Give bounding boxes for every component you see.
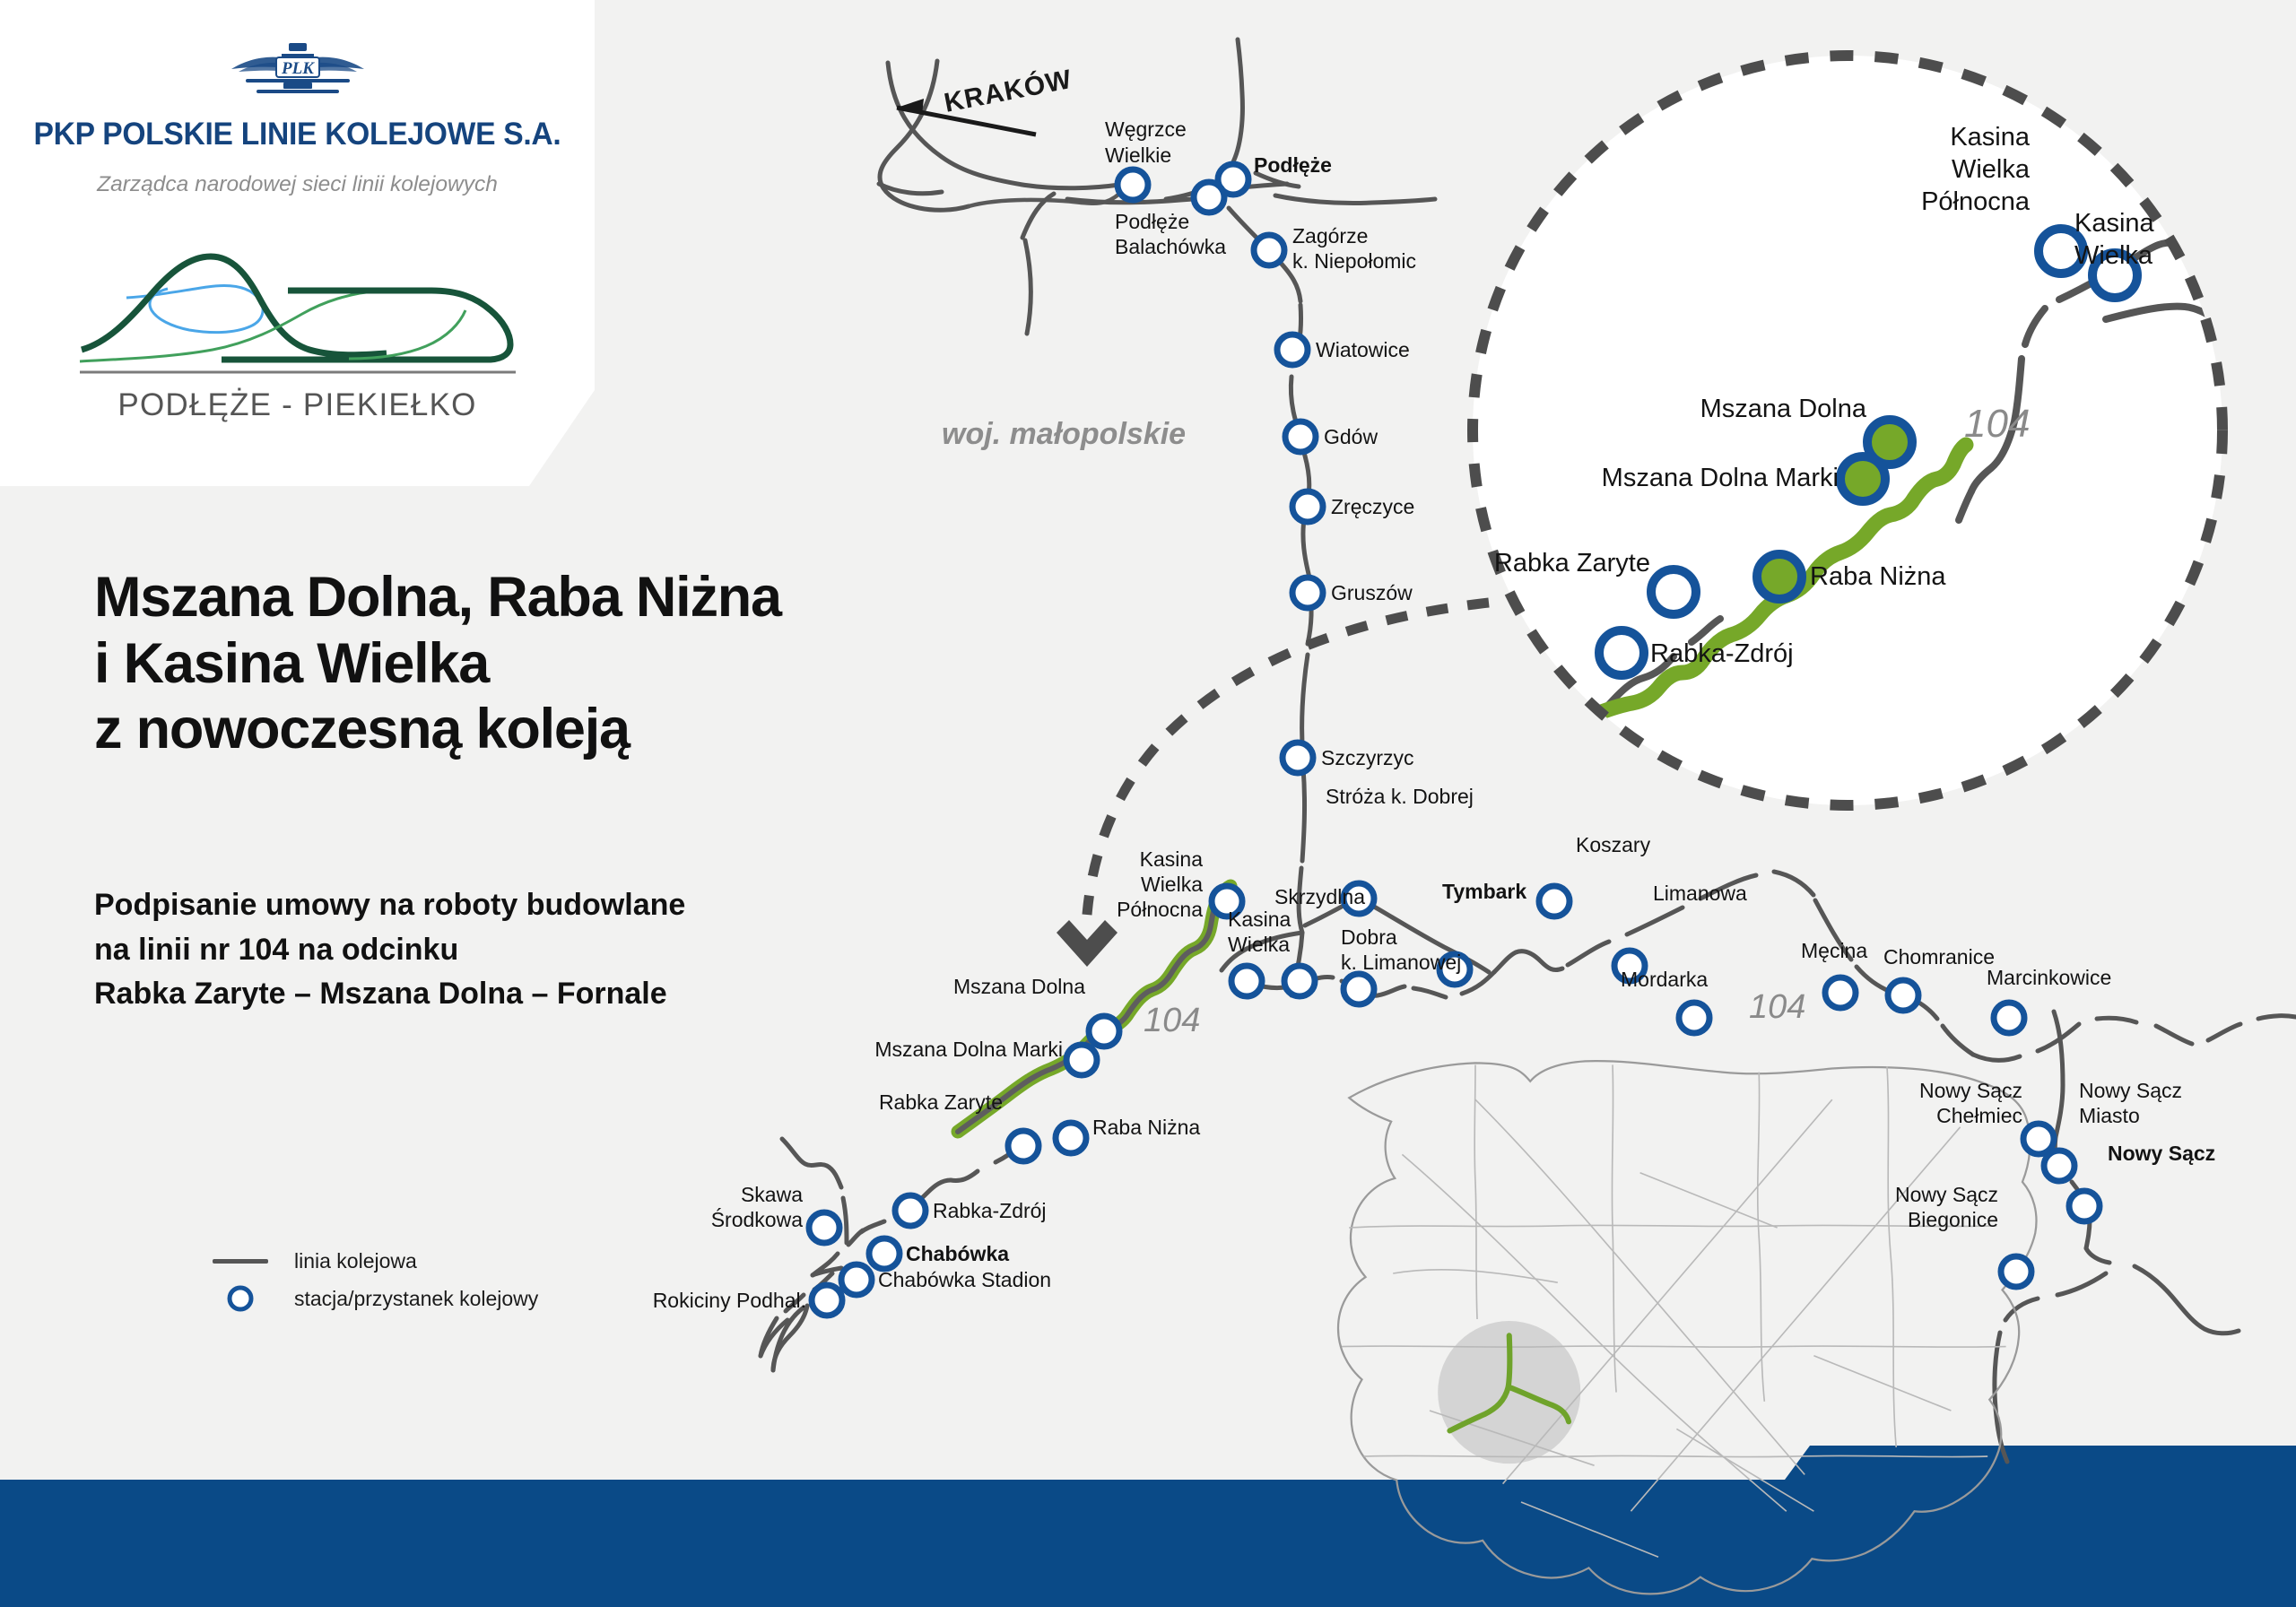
- label-gdow: Gdów: [1324, 425, 1378, 448]
- region-label: woj. małopolskie: [942, 417, 1186, 451]
- label-podleze-balachowka-1: Podłęże: [1115, 210, 1189, 233]
- label-kwp-3: Północna: [1117, 898, 1203, 921]
- station-node-chomranice[interactable]: [1888, 980, 1918, 1011]
- label-kw-2: Wielka: [1228, 933, 1290, 956]
- station-node-szczyrzyc[interactable]: [1283, 743, 1313, 773]
- legend-label-station: stacja/przystanek kolejowy: [294, 1287, 538, 1311]
- company-name: PKP POLSKIE LINIE KOLEJOWE S.A.: [12, 117, 582, 152]
- inset-label-kwp-3: Północna: [1921, 187, 2031, 216]
- inset-label-kw-1: Kasina: [2074, 209, 2155, 238]
- station-node-nowy-sacz[interactable]: [2069, 1191, 2100, 1221]
- inset-node-mszana-dolna-marki[interactable]: [1840, 456, 1885, 501]
- label-chabowka: Chabówka: [906, 1242, 1009, 1265]
- label-podleze-balachowka-2: Balachówka: [1115, 235, 1226, 258]
- station-node-skrzydlna[interactable]: [1284, 966, 1315, 996]
- inset-label-mszana-dolna: Mszana Dolna: [1700, 395, 1867, 423]
- label-podleze: Podłęże: [1254, 153, 1332, 177]
- label-marcinkowice: Marcinkowice: [1987, 966, 2111, 989]
- poland-locator-map: [1338, 1061, 2036, 1594]
- station-node-dobra[interactable]: [1344, 974, 1374, 1004]
- label-dobra-2: k. Limanowej: [1341, 951, 1461, 974]
- project-mark-icon: [74, 244, 521, 378]
- svg-text:PLK: PLK: [281, 59, 315, 78]
- label-mecina: Męcina: [1801, 939, 1867, 962]
- label-dobra-1: Dobra: [1341, 925, 1397, 949]
- label-koszary: Koszary: [1576, 833, 1651, 856]
- label-wegrzce-wielkie-2: Wielkie: [1105, 143, 1171, 167]
- station-node-wegrzce-wielkie[interactable]: [1118, 169, 1148, 200]
- station-node-nowy-sacz-miasto[interactable]: [2044, 1151, 2074, 1181]
- label-skrzydlna: Skrzydlna: [1274, 885, 1365, 908]
- inset-label-kwp-2: Wielka: [1952, 155, 2031, 184]
- label-raba-nizna: Raba Niżna: [1092, 1116, 1200, 1139]
- label-rabka-zaryte: Rabka Zaryte: [879, 1090, 1003, 1114]
- legend-item-station: stacja/przystanek kolejowy: [208, 1280, 538, 1317]
- label-wegrzce-wielkie-1: Węgrzce: [1105, 117, 1187, 141]
- station-node-podleze-balachowka[interactable]: [1194, 182, 1224, 213]
- inset-label-kw-2: Wielka: [2074, 241, 2153, 270]
- title-line-1: Mszana Dolna, Raba Niżna: [94, 565, 1170, 631]
- station-node-gruszow[interactable]: [1292, 578, 1323, 608]
- station-node-koszary[interactable]: [1539, 886, 1570, 916]
- inset-node-rabka-zaryte[interactable]: [1651, 569, 1696, 614]
- label-nsm-2: Miasto: [2079, 1104, 2140, 1127]
- inset-node-rabka-zdroj[interactable]: [1599, 630, 1644, 675]
- station-node-kasina-wielka[interactable]: [1231, 966, 1262, 996]
- brand-card: PLK PKP POLSKIE LINIE KOLEJOWE S.A. Zarz…: [0, 0, 595, 486]
- label-tymbark: Tymbark: [1442, 880, 1526, 903]
- label-zagorze-1: Zagórze: [1292, 224, 1368, 248]
- label-skawa-1: Skawa: [741, 1183, 803, 1206]
- label-nsb-1: Nowy Sącz: [1895, 1183, 1998, 1206]
- station-node-chabowka[interactable]: [869, 1238, 900, 1269]
- infographic-canvas: Węgrzce Wielkie Podłęże Podłęże Balachów…: [0, 0, 2296, 1607]
- inset-label-raba-nizna: Raba Niżna: [1810, 562, 1946, 591]
- line-number-main: 104: [1144, 1002, 1200, 1039]
- legend-item-rail-line: linia kolejowa: [208, 1242, 538, 1280]
- station-node-mecina[interactable]: [1825, 977, 1856, 1008]
- inset-node-raba-nizna[interactable]: [1757, 554, 1802, 599]
- label-szczyrzyc: Szczyrzyc: [1321, 746, 1414, 769]
- station-node-mszana-dolna[interactable]: [1089, 1016, 1119, 1047]
- label-limanowa: Limanowa: [1653, 882, 1747, 905]
- station-node-zreczyce[interactable]: [1292, 491, 1323, 522]
- label-nsm-1: Nowy Sącz: [2079, 1079, 2182, 1102]
- station-node-mordarka[interactable]: [1679, 1003, 1709, 1033]
- station-node-skawa-srodkowa[interactable]: [809, 1212, 839, 1243]
- inset-line-number: 104: [1964, 402, 2030, 446]
- station-node-wiatowice[interactable]: [1277, 334, 1308, 365]
- label-nsch-2: Chełmiec: [1936, 1104, 2022, 1127]
- inset-label-mszana-dolna-marki: Mszana Dolna Marki: [1602, 464, 1839, 492]
- line-number-east: 104: [1749, 988, 1805, 1026]
- label-kw-1: Kasina: [1228, 908, 1291, 931]
- label-wiatowice: Wiatowice: [1316, 338, 1410, 361]
- subtitle-line-2: na linii nr 104 na odcinku: [94, 928, 1081, 973]
- label-zagorze-2: k. Niepołomic: [1292, 249, 1416, 273]
- label-rokiciny: Rokiciny Podhal.: [653, 1289, 806, 1312]
- station-node-nowy-sacz-chelmiec[interactable]: [2023, 1124, 2054, 1154]
- rail-line-swatch-icon: [208, 1259, 273, 1264]
- inset-label-rabka-zaryte: Rabka Zaryte: [1494, 549, 1650, 578]
- label-skawa-2: Środkowa: [711, 1207, 803, 1231]
- label-stroza: Stróża k. Dobrej: [1326, 785, 1474, 808]
- station-node-marcinkowice[interactable]: [1994, 1003, 2024, 1033]
- subtitle-line-1: Podpisanie umowy na roboty budowlane: [94, 883, 1081, 928]
- station-node-chabowka-stadion[interactable]: [841, 1264, 872, 1295]
- station-node-nowy-sacz-biegonice[interactable]: [2001, 1256, 2031, 1287]
- station-node-zagorze[interactable]: [1254, 235, 1284, 265]
- legend-label-rail-line: linia kolejowa: [294, 1249, 417, 1273]
- label-nsb-2: Biegonice: [1908, 1208, 1998, 1231]
- label-nowy-sacz: Nowy Sącz: [2108, 1142, 2215, 1165]
- label-mszana-dolna-marki: Mszana Dolna Marki: [874, 1038, 1063, 1061]
- page-title: Mszana Dolna, Raba Niżna i Kasina Wielka…: [94, 565, 1170, 763]
- station-node-rokiciny-podhal[interactable]: [812, 1285, 842, 1316]
- label-chabowka-stadion: Chabówka Stadion: [878, 1268, 1051, 1291]
- company-tagline: Zarządca narodowej sieci linii kolejowyc…: [0, 172, 595, 197]
- label-gruszow: Gruszów: [1331, 581, 1413, 604]
- station-node-mszana-dolna-marki[interactable]: [1066, 1045, 1097, 1075]
- inset-label-kwp-1: Kasina: [1950, 123, 2031, 152]
- inset-label-rabka-zdroj: Rabka-Zdrój: [1650, 639, 1794, 668]
- plk-logo-icon: PLK: [226, 39, 370, 95]
- station-node-gdow[interactable]: [1285, 421, 1316, 452]
- station-node-rabka-zdroj[interactable]: [895, 1195, 926, 1226]
- label-nsch-1: Nowy Sącz: [1919, 1079, 2022, 1102]
- project-name: PODŁĘŻE - PIEKIEŁKO: [0, 387, 595, 423]
- label-mordarka: Mordarka: [1621, 968, 1708, 991]
- label-chomranice: Chomranice: [1883, 945, 1995, 969]
- map-legend: linia kolejowa stacja/przystanek kolejow…: [208, 1242, 538, 1317]
- page-subtitle: Podpisanie umowy na roboty budowlane na …: [94, 883, 1081, 1017]
- label-kwp-1: Kasina: [1140, 847, 1204, 871]
- title-line-2: i Kasina Wielka: [94, 631, 1170, 698]
- label-zreczyce: Zręczyce: [1331, 495, 1414, 518]
- title-line-3: z nowoczesną koleją: [94, 697, 1170, 763]
- station-node-raba-nizna[interactable]: [1056, 1123, 1086, 1153]
- label-rabka-zdroj: Rabka-Zdrój: [933, 1199, 1047, 1222]
- subtitle-line-3: Rabka Zaryte – Mszana Dolna – Fornale: [94, 972, 1081, 1017]
- label-kwp-2: Wielka: [1141, 873, 1203, 896]
- station-node-rabka-zaryte[interactable]: [1008, 1131, 1039, 1161]
- inset-detail-circle: [1473, 56, 2257, 805]
- station-circle-swatch-icon: [208, 1283, 273, 1314]
- direction-label-krakow: KRAKÓW: [942, 64, 1074, 118]
